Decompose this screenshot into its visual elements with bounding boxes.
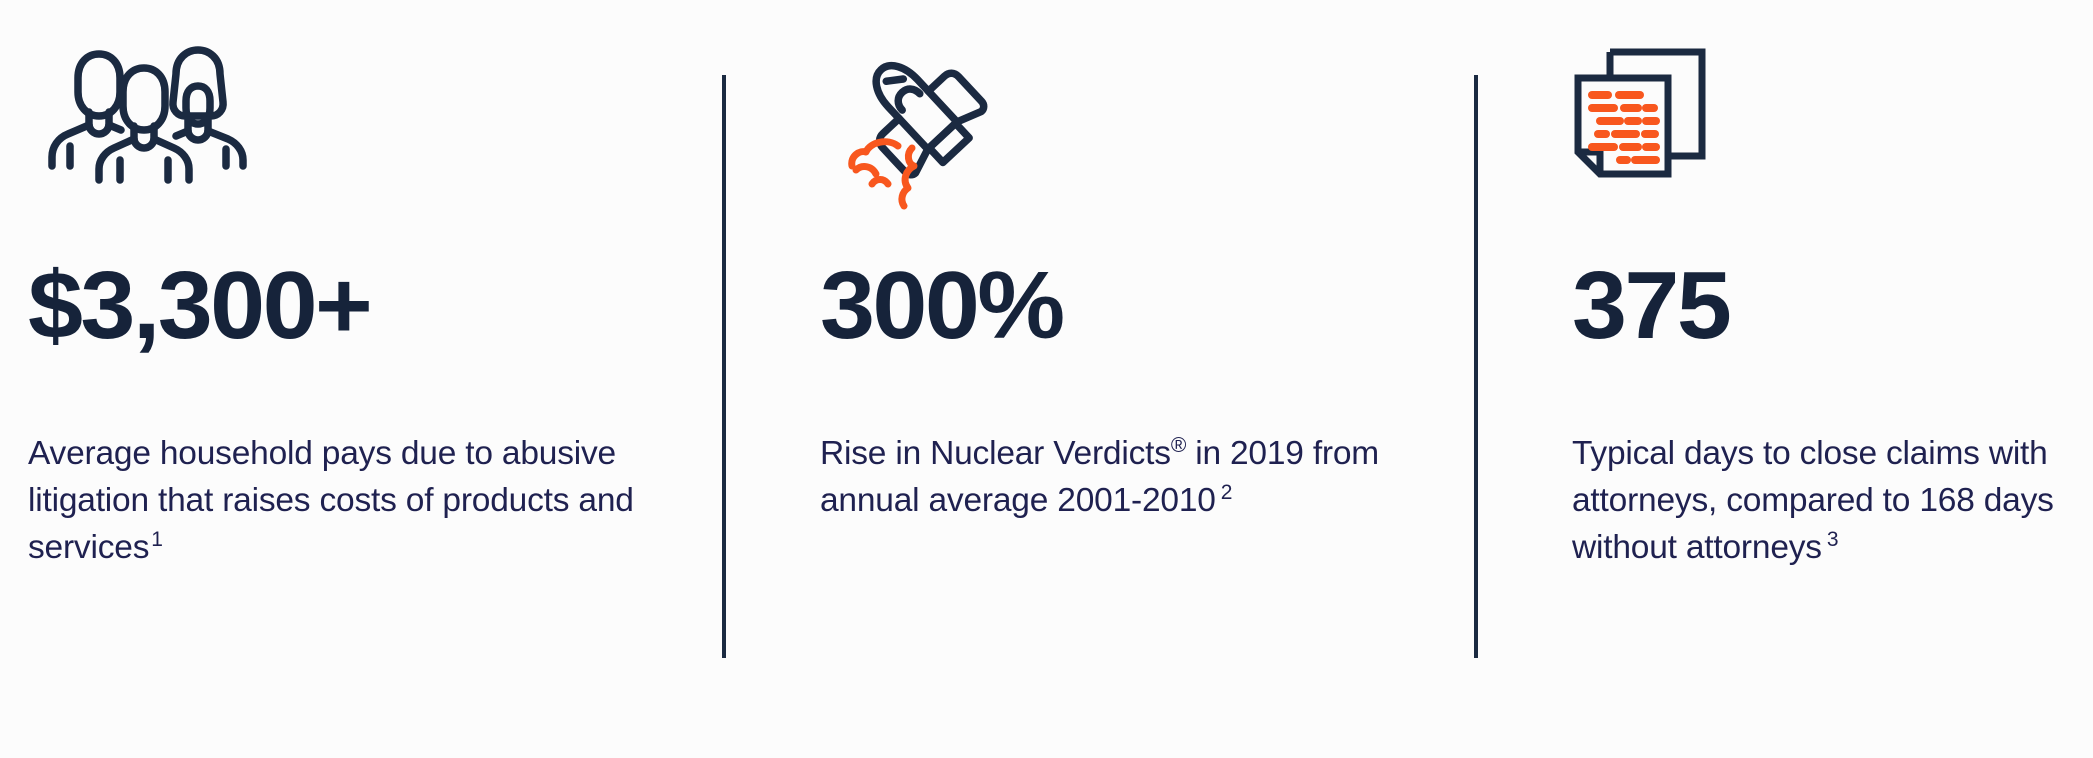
footnote-marker: 1 [149, 528, 162, 551]
stat-caption: Rise in Nuclear Verdicts® in 2019 from a… [820, 430, 1420, 524]
stat-column-claims: 375 Typical days to close claims with at… [1572, 0, 2072, 758]
stat-caption-lead: Rise in Nuclear Verdicts [820, 435, 1171, 472]
stat-caption: Typical days to close claims with attorn… [1572, 430, 2072, 571]
footnote-marker: 2 [1216, 481, 1232, 504]
stat-caption: Average household pays due to abusive li… [28, 430, 668, 571]
registered-trademark-symbol: ® [1171, 434, 1186, 457]
stat-value: 300% [820, 258, 1063, 354]
stat-value: 375 [1572, 258, 1729, 354]
stat-value: $3,300+ [28, 258, 370, 354]
rocket-icon [826, 38, 1026, 198]
footnote-marker: 3 [1822, 528, 1838, 551]
column-divider-1 [722, 75, 726, 658]
documents-icon [1572, 44, 1752, 204]
stat-column-verdicts: 300% Rise in Nuclear Verdicts® in 2019 f… [820, 0, 1440, 758]
stats-band: $3,300+ Average household pays due to ab… [0, 0, 2093, 758]
stat-caption-text: Typical days to close claims with attorn… [1572, 435, 2054, 566]
stat-column-household: $3,300+ Average household pays due to ab… [28, 0, 688, 758]
stat-caption-text: Average household pays due to abusive li… [28, 435, 634, 566]
three-people-icon [48, 46, 248, 206]
column-divider-2 [1474, 75, 1478, 658]
